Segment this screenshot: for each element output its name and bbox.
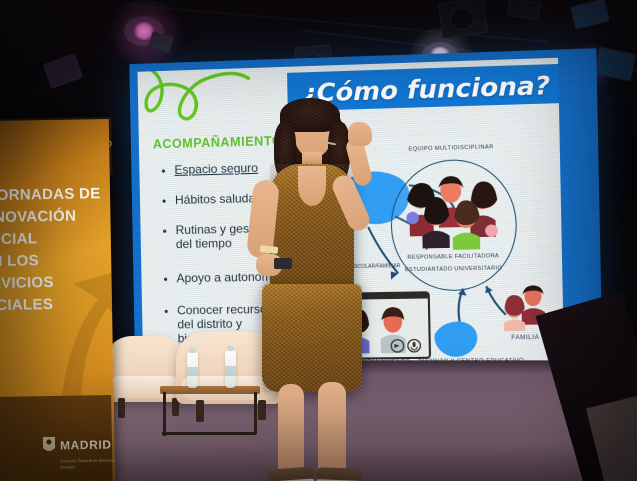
water-bottle-2 xyxy=(225,350,236,388)
armchair-right-leg xyxy=(196,400,204,422)
speaker-dress-skirt xyxy=(262,284,362,392)
bottle-label xyxy=(187,367,198,376)
bottle-label xyxy=(225,366,236,376)
banner-bottom-sub: Dirección General de Servicios Sociales xyxy=(60,458,116,472)
banner-line-4: EN LOS xyxy=(0,252,39,270)
bullet-marker: • xyxy=(163,272,167,286)
banner-line-2: INNOVACIÓN xyxy=(0,208,76,227)
bullet-marker: • xyxy=(164,304,168,318)
bullet-marker: • xyxy=(162,194,166,208)
bullet-marker: • xyxy=(161,164,165,178)
team-avatars-illustration xyxy=(402,175,504,251)
video-controls-icons xyxy=(389,338,425,353)
bottle-cap-icon xyxy=(227,346,233,351)
speaker-hand-right xyxy=(348,122,372,146)
side-table-leg-left xyxy=(163,392,166,436)
bullet-marker: • xyxy=(162,224,166,238)
banner-line-6: SOCIALES xyxy=(0,296,53,314)
speaker-sandal-right xyxy=(316,467,362,481)
banner-line-3: SOCIAL xyxy=(0,230,37,248)
hanging-light-fixture-1 xyxy=(438,0,489,39)
banner-line-5: SERVICIOS xyxy=(0,274,54,292)
banner-line-1: JORNADAS DE xyxy=(0,185,101,204)
armchair-left-leg xyxy=(118,398,125,418)
banner-bottom-crest-icon xyxy=(42,436,56,454)
diagram-arrow-right xyxy=(474,282,513,320)
speaker-neckline xyxy=(298,166,326,206)
presentation-clicker xyxy=(274,258,292,269)
stage-scene: ¿Cómo funciona? ACOMPAÑAMIENTO • Espacio… xyxy=(0,0,637,481)
banner-bottom-logo: MADRID xyxy=(60,438,112,453)
diagram-center-top-label: EQUIPO MULTIDISCIPLINAR xyxy=(389,144,513,153)
water-bottle-1 xyxy=(187,352,198,388)
speaker-leg-right xyxy=(318,382,346,481)
bottle-cap-icon xyxy=(189,348,195,353)
speaker-sandal-left xyxy=(268,466,315,481)
speaker-person xyxy=(236,96,376,481)
